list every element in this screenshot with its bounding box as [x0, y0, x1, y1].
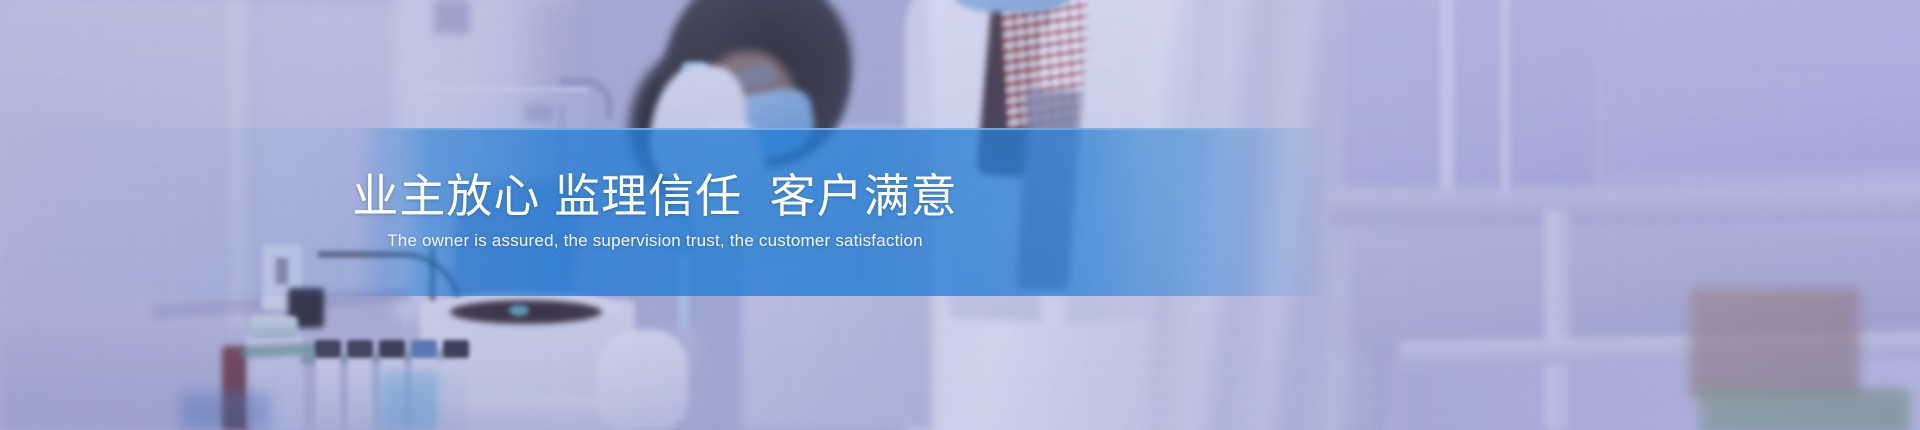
- sample-vial-cap: [443, 340, 469, 358]
- gloved-hand-bench: [596, 330, 688, 430]
- sample-vial-cap: [347, 340, 373, 358]
- window-sill: [1330, 188, 1920, 224]
- sample-vial-cap: [379, 340, 405, 358]
- window-mullion-secondary: [1500, 0, 1510, 220]
- centrifuge-sample: [509, 305, 529, 316]
- wall-plate: [434, 0, 470, 34]
- caption-block: 业主放心 监理信任 客户满意 The owner is assured, the…: [0, 128, 1310, 296]
- window-mullion: [1440, 0, 1454, 220]
- subtitle-text: The owner is assured, the supervision tr…: [387, 230, 923, 252]
- green-box: [1700, 388, 1910, 430]
- sample-vial: [444, 348, 468, 430]
- sample-vial-cap: [411, 340, 437, 358]
- window-far-right: [1600, 0, 1920, 170]
- headline-text: 业主放心 监理信任 客户满意: [352, 172, 957, 222]
- support-post: [1545, 210, 1571, 430]
- sample-vial-cap: [315, 340, 341, 358]
- hero-banner: 业主放心 监理信任 客户满意 The owner is assured, the…: [0, 0, 1920, 430]
- cardboard-box: [1690, 288, 1860, 398]
- blue-equipment-accent: [380, 372, 440, 430]
- sample-vial: [348, 348, 372, 430]
- blue-shadow-accent: [180, 392, 270, 430]
- water-bottle-cap: [250, 316, 298, 338]
- sample-vial: [316, 348, 340, 430]
